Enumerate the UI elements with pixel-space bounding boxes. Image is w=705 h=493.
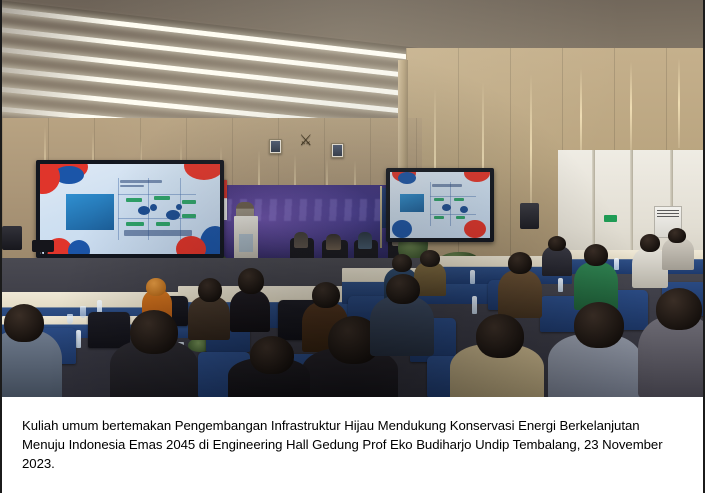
speaker-cabinet	[520, 203, 539, 229]
caption-text: Kuliah umum bertemakan Pengembangan Infr…	[2, 397, 703, 473]
audience-member-head	[420, 250, 440, 267]
water-bottle	[558, 278, 563, 292]
vice-president-portrait	[331, 143, 344, 158]
drinking-glass	[80, 306, 86, 318]
audience-member-foreground	[370, 296, 434, 356]
audience-member-head	[146, 278, 166, 296]
wall-mullion	[630, 150, 633, 258]
audience-chair	[88, 312, 130, 348]
panelist	[326, 234, 341, 250]
audience-member-head	[668, 228, 686, 243]
water-bottle	[76, 330, 81, 348]
audience-member-head	[476, 314, 524, 358]
audience-member-head	[198, 278, 222, 302]
video-camera	[32, 240, 54, 252]
presentation-screen-left	[36, 160, 224, 258]
water-bottle	[470, 270, 475, 284]
audience-member-head	[548, 236, 566, 251]
panelist	[294, 232, 308, 248]
audience-member-head	[386, 274, 420, 304]
audience-member	[498, 270, 542, 318]
speaker-cabinet	[2, 226, 22, 250]
water-bottle	[614, 258, 619, 270]
photo-caption: Kuliah umum bertemakan Pengembangan Infr…	[2, 397, 703, 491]
president-portrait	[269, 139, 282, 154]
slide-right	[390, 172, 490, 238]
audience-member	[188, 296, 230, 340]
audience-member-head	[238, 268, 264, 294]
audience-member-head	[4, 304, 44, 342]
audience-member-head	[312, 282, 340, 308]
audience-member-head	[130, 310, 178, 354]
drinking-glass	[67, 314, 73, 324]
audience-member-head	[392, 254, 412, 272]
panelist	[358, 232, 372, 249]
audience-member-head	[584, 244, 608, 266]
audience-member-head	[508, 252, 532, 274]
water-bottle	[472, 296, 477, 314]
wall-mullion	[592, 150, 595, 258]
audience-member	[230, 290, 270, 332]
audience-member-head	[640, 234, 660, 252]
screenshot-root: ⚔	[0, 0, 705, 493]
video-call-inset	[66, 194, 114, 230]
exit-sign	[604, 215, 617, 222]
garuda-pancasila-emblem: ⚔	[299, 133, 312, 148]
audience-member-head	[250, 336, 294, 374]
audience-member-head	[574, 302, 624, 348]
presentation-screen-right	[386, 168, 494, 242]
slide-left	[40, 164, 220, 254]
audience-member-head	[656, 288, 702, 330]
event-photo: ⚔	[2, 0, 703, 397]
